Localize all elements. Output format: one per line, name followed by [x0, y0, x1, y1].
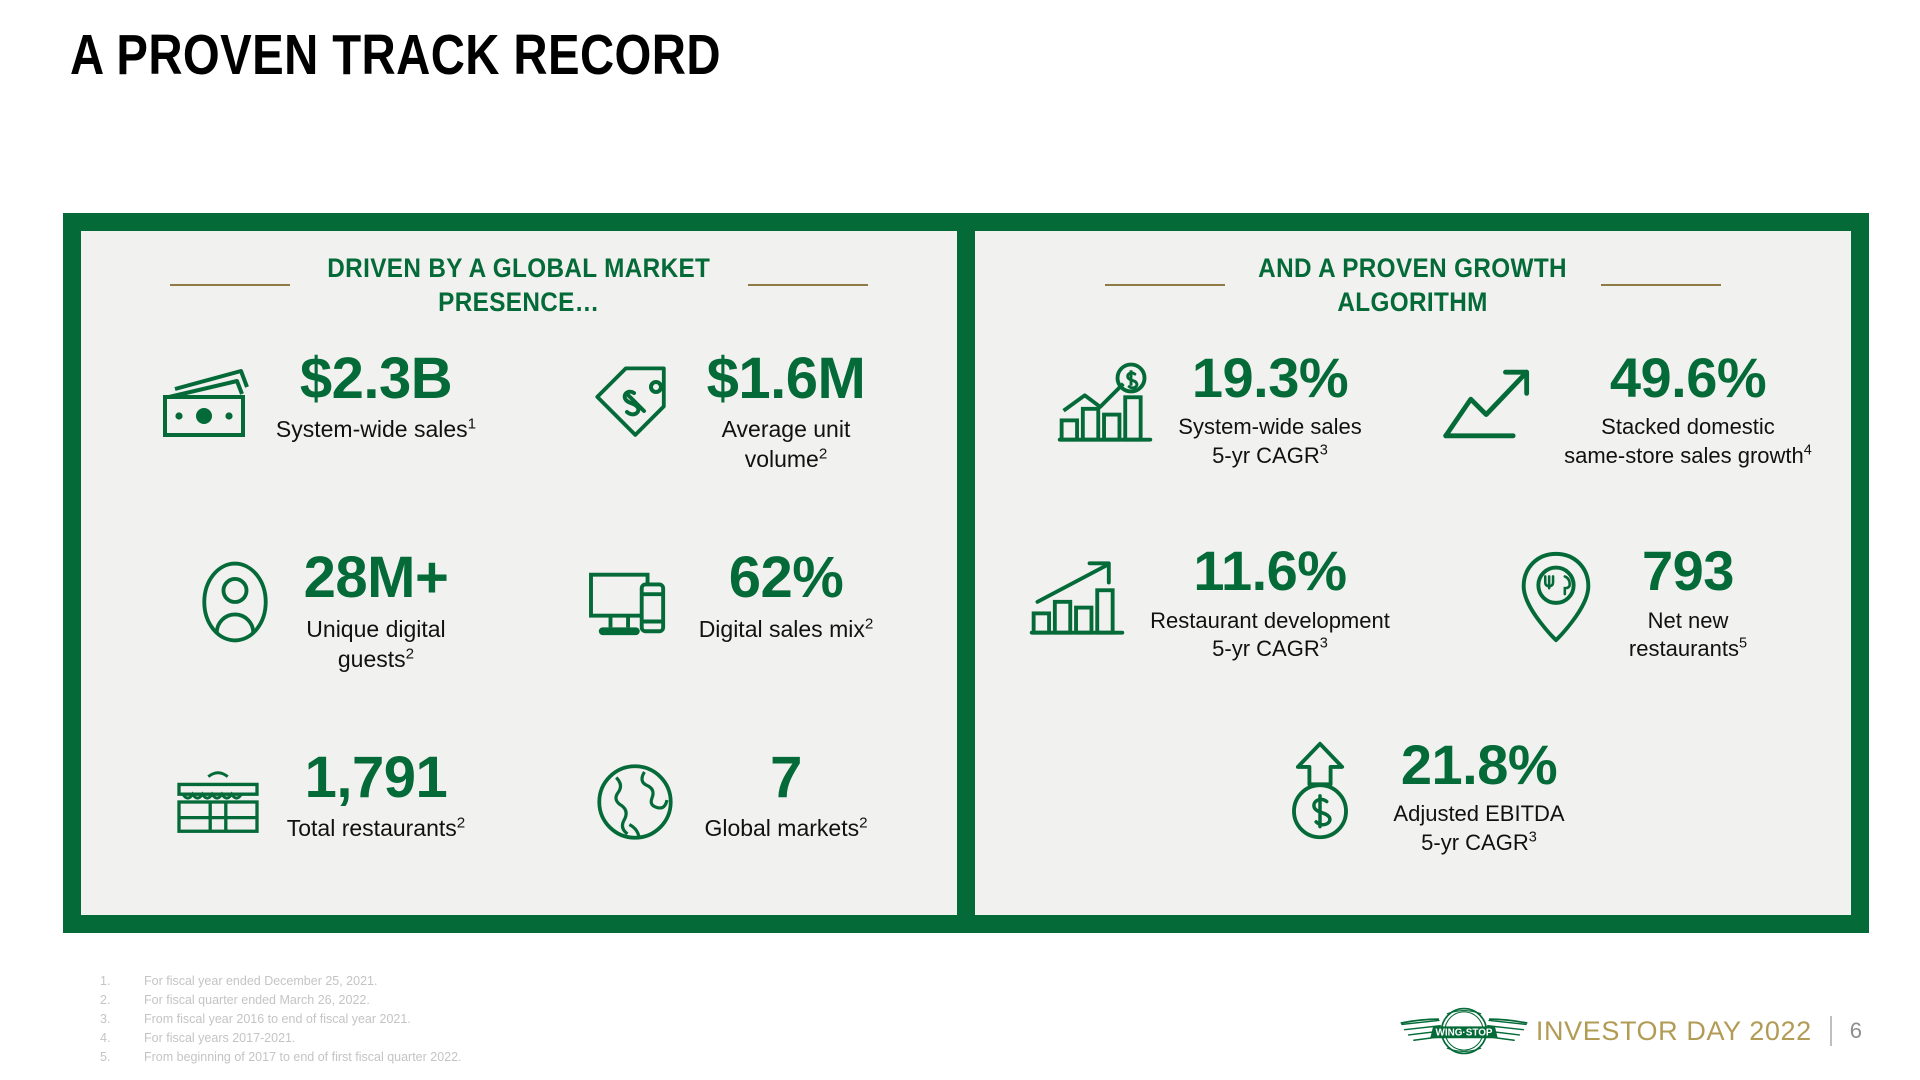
footnotes-list: 1. For fiscal year ended December 25, 20… [100, 972, 462, 1067]
stat-footnote-ref: 2 [859, 814, 867, 831]
stat-label: Global markets2 [704, 814, 867, 844]
stat-value: 1,791 [305, 748, 448, 808]
svg-text:WING·STOP: WING·STOP [1435, 1028, 1492, 1039]
footnote-item: 5. From beginning of 2017 to end of firs… [100, 1048, 462, 1067]
stat-label-text: Average unit volume [722, 416, 851, 472]
globe-icon [580, 748, 690, 856]
price-tag-dollar-icon [583, 349, 693, 457]
left-panel: DRIVEN BY A GLOBAL MARKET PRESENCE… [81, 231, 957, 915]
stat-value: $2.3B [300, 349, 452, 409]
right-panel-title: AND A PROVEN GROWTH ALGORITHM [1259, 251, 1568, 319]
stat-body: 21.8% Adjusted EBITDA 5-yr CAGR3 [1393, 736, 1564, 857]
stat-value: 49.6% [1610, 349, 1766, 407]
stat-footnote-ref: 3 [1320, 443, 1328, 459]
footnote-text: For fiscal years 2017-2021. [144, 1029, 295, 1048]
stat-item: 28M+ Unique digital guests2 [109, 540, 519, 733]
user-circle-icon [180, 548, 290, 656]
upward-arrow-icon [1432, 349, 1550, 459]
bar-chart-dollar-icon [1046, 349, 1164, 459]
stat-label-text: System-wide sales [276, 416, 468, 442]
stat-label: Net new restaurants5 [1629, 607, 1747, 664]
stat-body: 7 Global markets2 [704, 748, 867, 844]
stat-item: 49.6% Stacked domestic same-store sales … [1413, 341, 1831, 528]
stat-footnote-ref: 2 [457, 814, 465, 831]
stat-value: 28M+ [304, 548, 449, 608]
left-panel-title: DRIVEN BY A GLOBAL MARKET PRESENCE… [328, 251, 711, 319]
stat-label-text: System-wide sales 5-yr CAGR [1178, 414, 1361, 468]
footnote-number: 4. [100, 1029, 144, 1048]
stat-item: $1.6M Average unit volume2 [519, 341, 929, 534]
footnote-number: 5. [100, 1048, 144, 1067]
stat-item: $2.3B System-wide sales1 [109, 341, 519, 534]
left-stats-grid: $2.3B System-wide sales1 [81, 319, 957, 915]
stat-label: System-wide sales 5-yr CAGR3 [1178, 413, 1361, 470]
stat-label-text: Net new restaurants [1629, 608, 1739, 662]
stat-label-text: Stacked domestic same-store sales growth [1564, 414, 1804, 468]
footnote-item: 4. For fiscal years 2017-2021. [100, 1029, 462, 1048]
page-number: 6 [1850, 1018, 1862, 1044]
footnote-text: For fiscal quarter ended March 26, 2022. [144, 991, 370, 1010]
stat-label: Stacked domestic same-store sales growth… [1564, 413, 1812, 470]
footer-divider [1830, 1016, 1832, 1046]
stat-footnote-ref: 4 [1804, 443, 1812, 459]
stat-body: $2.3B System-wide sales1 [276, 349, 476, 445]
stat-label: Restaurant development 5-yr CAGR3 [1150, 607, 1390, 664]
footnote-text: From fiscal year 2016 to end of fiscal y… [144, 1010, 411, 1029]
stat-body: 49.6% Stacked domestic same-store sales … [1564, 349, 1812, 470]
footnote-number: 2. [100, 991, 144, 1010]
stat-footnote-ref: 2 [865, 615, 873, 632]
stat-label-text: Digital sales mix [699, 616, 865, 642]
restaurant-pin-icon [1497, 542, 1615, 652]
stat-label-text: Global markets [704, 815, 859, 841]
stat-label-text: Restaurant development 5-yr CAGR [1150, 608, 1390, 662]
footnote-item: 2. For fiscal quarter ended March 26, 20… [100, 991, 462, 1010]
left-panel-header: DRIVEN BY A GLOBAL MARKET PRESENCE… [81, 251, 957, 319]
footnote-text: From beginning of 2017 to end of first f… [144, 1048, 462, 1067]
wingstop-logo-icon: WING·STOP [1398, 1000, 1530, 1062]
content-frame: DRIVEN BY A GLOBAL MARKET PRESENCE… [63, 213, 1869, 933]
stat-label-text: Total restaurants [287, 815, 457, 841]
footnote-text: For fiscal year ended December 25, 2021. [144, 972, 377, 991]
devices-icon [575, 548, 685, 656]
divider-rule-right [1601, 284, 1721, 286]
stat-item: 1,791 Total restaurants2 [109, 740, 519, 915]
right-panel: AND A PROVEN GROWTH ALGORITHM [975, 231, 1851, 915]
footnote-item: 1. For fiscal year ended December 25, 20… [100, 972, 462, 991]
stat-label: Digital sales mix2 [699, 615, 874, 645]
dollar-coin-arrow-icon [1261, 736, 1379, 846]
stat-value: $1.6M [707, 349, 866, 409]
cash-bills-icon [152, 349, 262, 457]
stat-footnote-ref: 3 [1529, 829, 1537, 845]
right-stats-grid: 19.3% System-wide sales 5-yr CAGR3 [975, 319, 1851, 915]
right-panel-header: AND A PROVEN GROWTH ALGORITHM [975, 251, 1851, 319]
stat-label: System-wide sales1 [276, 415, 476, 445]
footnote-item: 3. From fiscal year 2016 to end of fisca… [100, 1010, 462, 1029]
footer-brand: WING·STOP INVESTOR DAY 2022 6 [1398, 1000, 1862, 1062]
stat-label: Total restaurants2 [287, 814, 465, 844]
stat-footnote-ref: 1 [468, 416, 476, 433]
stat-label: Average unit volume2 [722, 415, 851, 475]
stat-footnote-ref: 3 [1320, 636, 1328, 652]
stat-body: 1,791 Total restaurants2 [287, 748, 465, 844]
slide-root: A PROVEN TRACK RECORD DRIVEN BY A GLOBAL… [0, 0, 1920, 1080]
bar-chart-arrow-icon [1018, 542, 1136, 652]
stat-body: 62% Digital sales mix2 [699, 548, 874, 644]
divider-rule-left [170, 284, 290, 286]
divider-rule-right [748, 284, 868, 286]
stat-label-text: Adjusted EBITDA 5-yr CAGR [1393, 801, 1564, 855]
stat-item: 62% Digital sales mix2 [519, 540, 929, 733]
stat-item: 7 Global markets2 [519, 740, 929, 915]
stat-item: 793 Net new restaurants5 [1413, 534, 1831, 721]
stat-item: 11.6% Restaurant development 5-yr CAGR3 [995, 534, 1413, 721]
stat-body: 793 Net new restaurants5 [1629, 542, 1747, 663]
stat-body: 28M+ Unique digital guests2 [304, 548, 449, 674]
stat-item: 21.8% Adjusted EBITDA 5-yr CAGR3 [995, 728, 1831, 915]
stat-value: 62% [729, 548, 844, 608]
stat-label-text: Unique digital guests [306, 616, 445, 672]
investor-day-label: INVESTOR DAY 2022 [1536, 1016, 1812, 1047]
footnote-number: 1. [100, 972, 144, 991]
storefront-icon [163, 748, 273, 856]
stat-value: 19.3% [1192, 349, 1348, 407]
page-title: A PROVEN TRACK RECORD [70, 22, 721, 88]
stat-label: Unique digital guests2 [306, 615, 445, 675]
stat-body: $1.6M Average unit volume2 [707, 349, 866, 475]
footnote-number: 3. [100, 1010, 144, 1029]
stat-footnote-ref: 2 [819, 446, 827, 463]
stat-body: 11.6% Restaurant development 5-yr CAGR3 [1150, 542, 1390, 663]
stat-value: 7 [770, 748, 802, 808]
divider-rule-left [1105, 284, 1225, 286]
stat-footnote-ref: 5 [1739, 636, 1747, 652]
stat-value: 21.8% [1401, 736, 1557, 794]
stat-item: 19.3% System-wide sales 5-yr CAGR3 [995, 341, 1413, 528]
stat-body: 19.3% System-wide sales 5-yr CAGR3 [1178, 349, 1361, 470]
stat-value: 11.6% [1193, 542, 1346, 600]
stat-footnote-ref: 2 [406, 645, 414, 662]
stat-value: 793 [1642, 542, 1734, 600]
stat-label: Adjusted EBITDA 5-yr CAGR3 [1393, 800, 1564, 857]
